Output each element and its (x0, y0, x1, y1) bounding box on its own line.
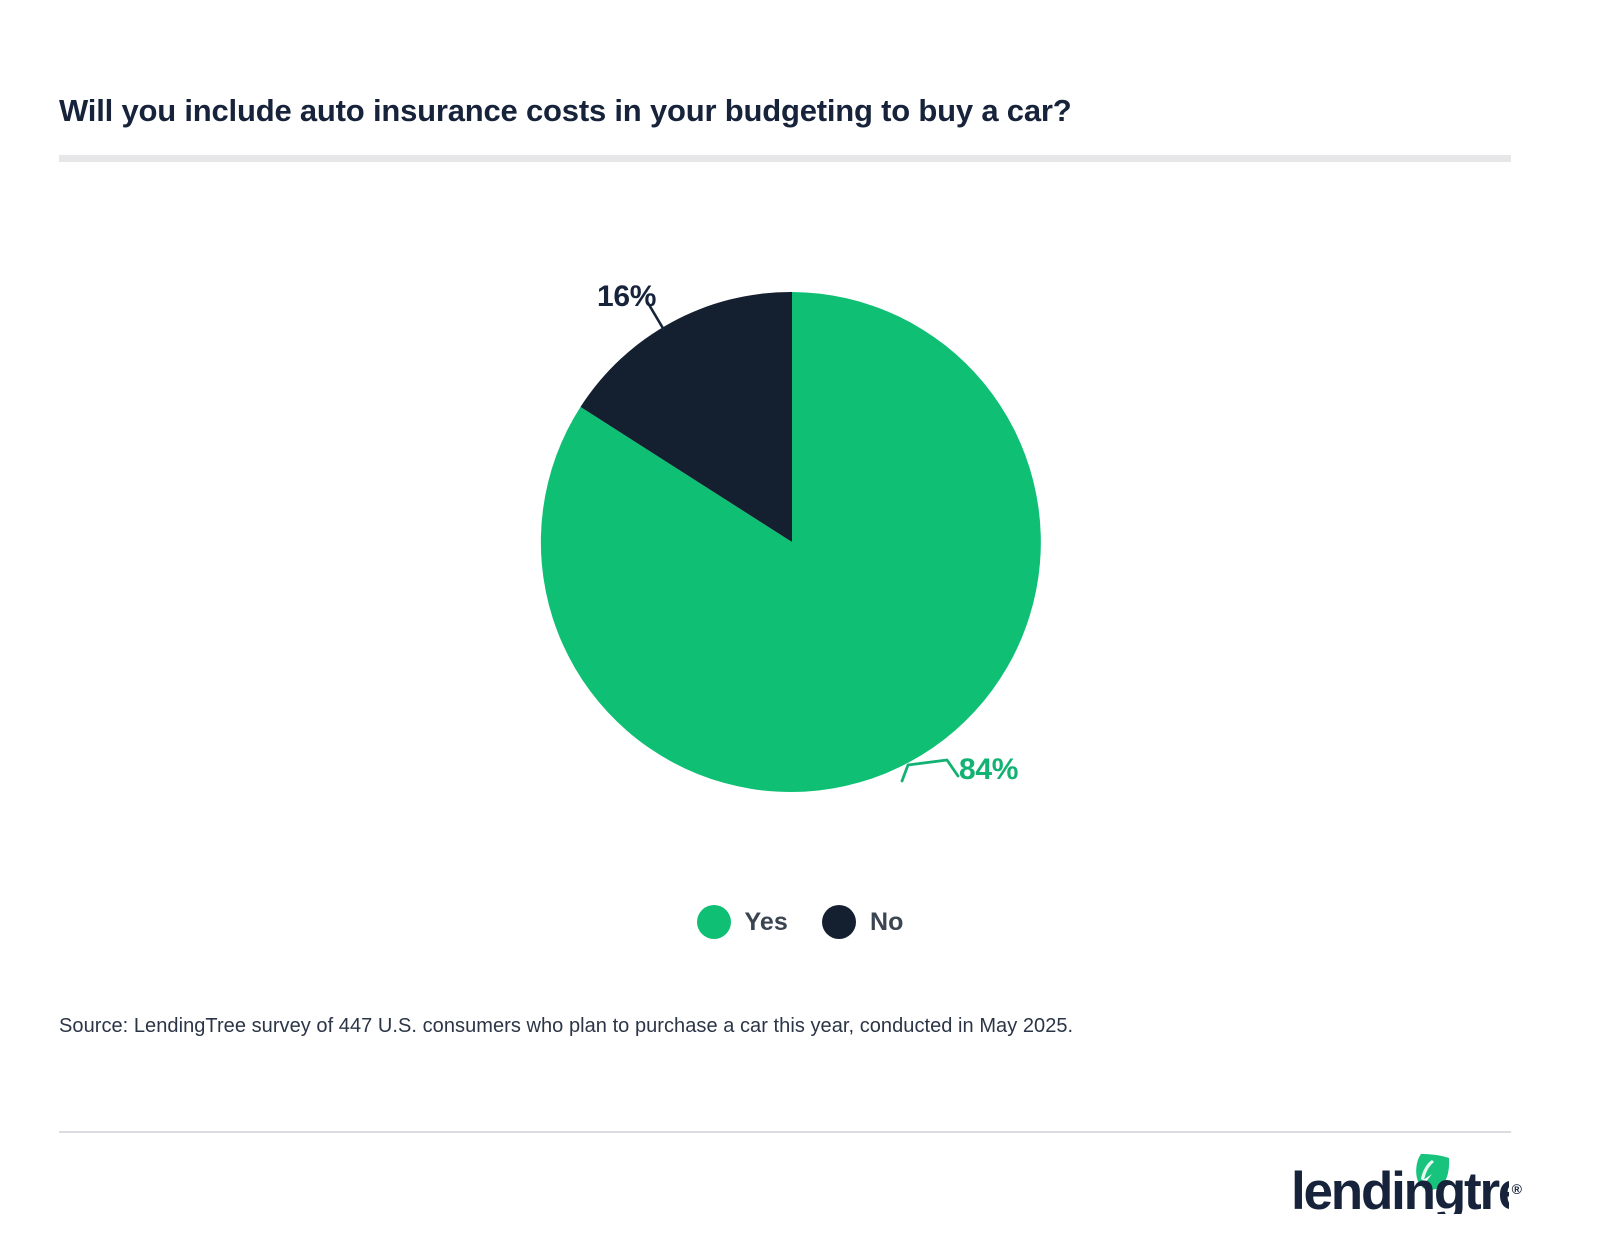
legend-swatch-no-icon (822, 905, 856, 939)
data-label-no: 16% (597, 280, 656, 314)
legend-label-yes: Yes (745, 908, 788, 937)
chart-legend: Yes No (0, 905, 1600, 939)
source-note: Source: LendingTree survey of 447 U.S. c… (59, 1015, 1459, 1038)
data-label-yes: 84% (959, 753, 1018, 787)
lendingtree-wordmark-icon: lendingtree (1291, 1152, 1509, 1214)
legend-item-no[interactable]: No (822, 905, 904, 939)
legend-swatch-yes-icon (697, 905, 731, 939)
page-title: Will you include auto insurance costs in… (59, 92, 1359, 129)
leader-line-yes (902, 760, 958, 781)
svg-text:lendingtree: lendingtree (1291, 1162, 1509, 1214)
pie-slice-yes[interactable] (541, 292, 1041, 792)
pie-slice-no[interactable] (581, 292, 793, 542)
pie-chart-svg (0, 0, 1600, 1254)
legend-label-no: No (870, 908, 904, 937)
footer-divider (59, 1131, 1511, 1133)
lendingtree-logo[interactable]: lendingtree ® (1291, 1152, 1522, 1214)
registered-trademark: ® (1512, 1181, 1522, 1197)
title-divider (59, 155, 1511, 162)
infographic-canvas: Will you include auto insurance costs in… (0, 0, 1600, 1254)
pie-chart (0, 0, 1600, 1254)
legend-item-yes[interactable]: Yes (697, 905, 788, 939)
